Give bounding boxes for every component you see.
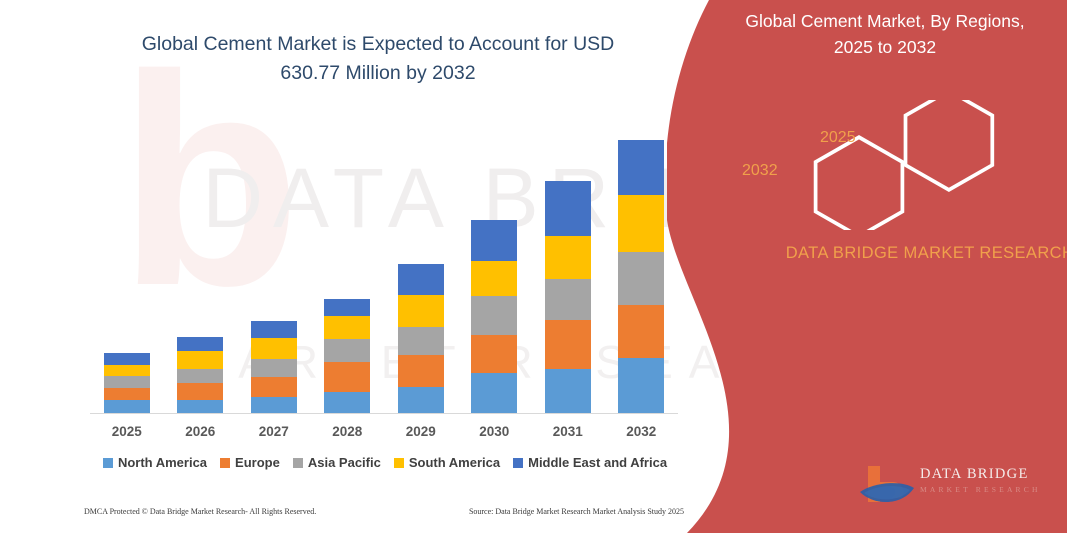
legend-item[interactable]: South America [394, 455, 500, 470]
bar-segment[interactable] [251, 321, 297, 338]
legend-swatch-icon [513, 458, 523, 468]
legend-swatch-icon [220, 458, 230, 468]
legend-item[interactable]: North America [103, 455, 207, 470]
bar-segment[interactable] [251, 359, 297, 377]
bar-segment[interactable] [545, 181, 591, 237]
logo-mark-icon [858, 462, 918, 508]
legend-item[interactable]: Middle East and Africa [513, 455, 667, 470]
x-axis-label: 2031 [533, 424, 603, 439]
hexagon-2032-label: 2032 [742, 162, 778, 180]
bar-segment[interactable] [177, 383, 223, 401]
x-axis-line [90, 413, 678, 414]
bar-segment[interactable] [177, 351, 223, 369]
x-axis-label: 2027 [239, 424, 309, 439]
bar-segment[interactable] [324, 362, 370, 391]
legend-swatch-icon [293, 458, 303, 468]
x-axis-label: 2025 [92, 424, 162, 439]
data-bridge-logo: DATA BRIDGE MARKET RESEARCH [858, 462, 1058, 510]
footer-copyright: DMCA Protected © Data Bridge Market Rese… [84, 507, 316, 516]
legend-swatch-icon [103, 458, 113, 468]
bar-segment[interactable] [104, 376, 150, 388]
chart-legend: North AmericaEuropeAsia PacificSouth Ame… [95, 455, 675, 470]
bar-segment[interactable] [324, 316, 370, 338]
footer: DMCA Protected © Data Bridge Market Rese… [84, 507, 684, 516]
bar-segment[interactable] [398, 295, 444, 327]
legend-item[interactable]: Europe [220, 455, 280, 470]
bar-segment[interactable] [618, 140, 664, 196]
brand-name: DATA BRIDGE MARKET RESEARCH [760, 240, 1067, 266]
bar-segment[interactable] [251, 377, 297, 398]
bar-segment[interactable] [324, 392, 370, 413]
legend-label: South America [409, 455, 500, 470]
x-axis-label: 2032 [606, 424, 676, 439]
x-axis-label: 2029 [386, 424, 456, 439]
footer-source: Source: Data Bridge Market Research Mark… [469, 507, 684, 516]
bar-segment[interactable] [398, 327, 444, 355]
bar-segment[interactable] [177, 400, 223, 413]
x-axis-label: 2028 [312, 424, 382, 439]
bar-segment[interactable] [251, 338, 297, 359]
right-panel: Global Cement Market, By Regions, 2025 t… [667, 0, 1067, 533]
bar-segment[interactable] [545, 369, 591, 413]
bar-segment[interactable] [398, 387, 444, 413]
legend-label: Middle East and Africa [528, 455, 667, 470]
bar-group[interactable] [545, 181, 591, 413]
bar-group[interactable] [471, 220, 517, 413]
bar-segment[interactable] [398, 264, 444, 295]
bar-segment[interactable] [618, 358, 664, 413]
bar-group[interactable] [398, 264, 444, 413]
bar-segment[interactable] [104, 388, 150, 401]
bar-segment[interactable] [104, 400, 150, 413]
legend-label: Asia Pacific [308, 455, 381, 470]
bar-segment[interactable] [471, 220, 517, 261]
infographic-root: b DATA BRIDGE MARKET RESEARCH Global Cem… [0, 0, 1067, 533]
bar-segment[interactable] [618, 305, 664, 359]
panel-title: Global Cement Market, By Regions, 2025 t… [725, 8, 1045, 60]
bar-segment[interactable] [618, 252, 664, 305]
bar-group[interactable] [324, 299, 370, 413]
bar-segment[interactable] [251, 397, 297, 413]
bar-segment[interactable] [471, 296, 517, 335]
bar-segment[interactable] [398, 355, 444, 386]
bar-segment[interactable] [545, 236, 591, 279]
bar-segment[interactable] [545, 320, 591, 369]
bar-segment[interactable] [545, 279, 591, 320]
x-axis-label: 2030 [459, 424, 529, 439]
legend-label: North America [118, 455, 207, 470]
red-panel-shape [667, 0, 1067, 533]
legend-swatch-icon [394, 458, 404, 468]
bar-segment[interactable] [324, 339, 370, 362]
bar-segment[interactable] [177, 369, 223, 383]
bar-segment[interactable] [104, 365, 150, 376]
bar-segment[interactable] [177, 337, 223, 352]
logo-title: DATA BRIDGE [920, 466, 1029, 483]
legend-label: Europe [235, 455, 280, 470]
x-axis-labels: 20252026202720282029203020312032 [90, 424, 680, 446]
hexagon-2032 [816, 137, 903, 230]
logo-subtitle: MARKET RESEARCH [920, 485, 1041, 494]
bar-group[interactable] [177, 337, 223, 413]
bar-segment[interactable] [471, 335, 517, 373]
chart-title: Global Cement Market is Expected to Acco… [118, 30, 638, 88]
x-axis-label: 2026 [165, 424, 235, 439]
hexagon-2025-label: 2025 [820, 129, 856, 147]
bar-group[interactable] [618, 140, 664, 413]
hexagon-2025 [906, 100, 993, 190]
bar-segment[interactable] [471, 373, 517, 413]
bar-segment[interactable] [618, 195, 664, 252]
bar-segment[interactable] [104, 353, 150, 365]
bar-group[interactable] [251, 321, 297, 413]
bar-group[interactable] [104, 353, 150, 413]
legend-item[interactable]: Asia Pacific [293, 455, 381, 470]
bar-segment[interactable] [324, 299, 370, 317]
hexagon-group [797, 100, 1057, 230]
chart-plot-area [90, 120, 680, 414]
bar-segment[interactable] [471, 261, 517, 296]
